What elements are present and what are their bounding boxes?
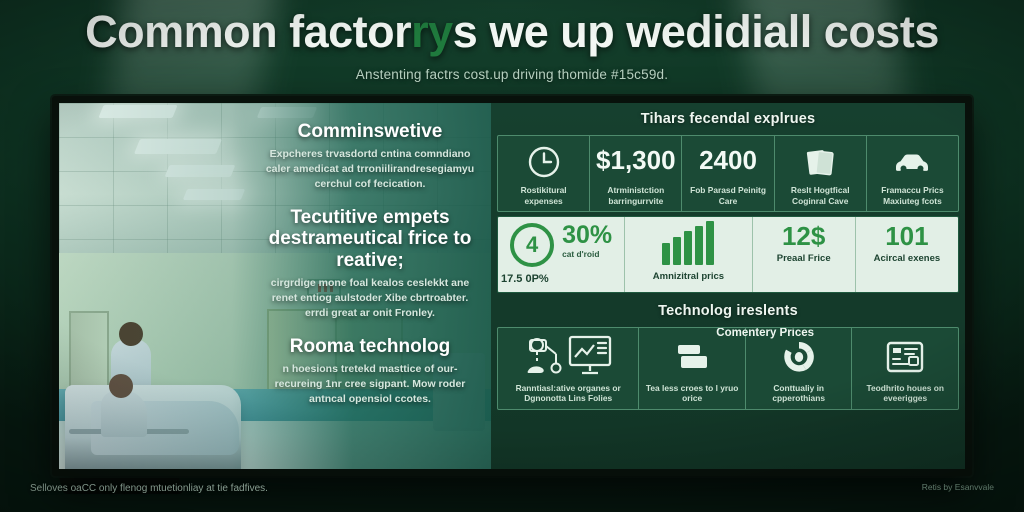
tech-caption: Teodhrito houes on eveerigges [855,383,955,404]
bar [706,221,714,265]
stat-card-residential[interactable]: Rostikitural expenses [498,136,590,211]
page-title-part2: s we up wedidiall costs [453,6,939,57]
price-value: 12$ [782,223,825,249]
dashboard-pane: Tihars fecendal explrues Rostikitural ex… [491,103,965,469]
tech-row: Comentery Prices [497,327,959,410]
tv-screen: Comminswetive Expcheres trvasdortd cntin… [52,96,972,476]
stat-card-pharmacy[interactable]: Framaccu Prics Maxiuteg fcots [867,136,958,211]
photo-text-overlay: Comminswetive Expcheres trvasdortd cntin… [261,121,479,421]
stat-caption: Rostikitural expenses [501,185,586,206]
percent-caption: cat d'roid [562,249,612,259]
tech-card-cycle[interactable]: Conttualiy in cpperothians [746,328,853,409]
stat-value: $1,300 [596,147,676,173]
stat-card-hospital-care[interactable]: Reslt Hogtfical Coginral Cave [775,136,867,211]
overlay-heading: Tecutitive empets destrameutical frice t… [261,207,479,271]
overlay-block: Tecutitive empets destrameutical frice t… [261,207,479,321]
tech-card-layers[interactable]: Tea less croes to l yruo orice [639,328,746,409]
stat-caption: Framaccu Prics Maxiuteg fcots [870,185,955,206]
robot-monitor-icon [522,334,614,380]
slide-canvas: Common factorrys we up wedidiall costs A… [0,0,1024,512]
metric-card-actual[interactable]: 101 Acircal exenes [856,217,958,292]
bar [695,226,703,265]
overlay-block: Rooma technolog n hoesions tretekd mastt… [261,336,479,407]
stat-caption: Atrministction barringurrvite [593,185,678,206]
metric-card-bar-chart[interactable]: Amnizitral prics [625,217,752,292]
clock-icon [527,142,561,182]
overlay-body: cirgrdige mone foal kealos ceslekkt ane … [261,276,479,321]
bar [673,237,681,265]
car-icon [893,142,931,182]
dashboard-section2-title: Technolog ireslents [497,297,959,323]
stats-row: Rostikitural expenses $1,300 Atrministct… [497,135,959,212]
actual-value: 101 [885,223,928,249]
headline-block: Common factorrys we up wedidiall costs A… [0,8,1024,82]
bar [684,231,692,265]
tech-caption: Conttualiy in cpperothians [749,383,849,404]
chart-caption: Amnizitral prics [653,271,724,283]
footer-credit: Retis by Esanvvale [922,482,994,492]
overlay-body: Expcheres trvasdortd cntina comndiano ca… [261,147,479,192]
overlay-heading: Rooma technolog [261,336,479,357]
page-title-accent: ry [411,6,453,57]
stat-value: 2400 [699,147,757,173]
bar-chart [662,223,714,265]
actual-caption: Acircal exenes [874,253,941,265]
overlay-body: n hoesions tretekd masttice of our- recu… [261,362,479,407]
clipboard-icon [884,334,926,380]
badge-caption: 17.5 0P% [501,273,549,287]
documents-icon [803,142,837,182]
stat-caption: Fob Parasd Peinitg Care [685,185,770,206]
stat-caption: Reslt Hogtfical Coginral Cave [778,185,863,206]
tech-card-automation[interactable]: Ranntiasl:ative organes or Dgnonotta Lin… [498,328,639,409]
metrics-row: 4 30% cat d'roid 17.5 0P% [497,216,959,293]
tech-card-clipboard[interactable]: Teodhrito houes on eveerigges [852,328,958,409]
section2-subtitle: Comentery Prices [716,327,814,339]
footer-note: Selloves oaCC only flenog mtuetionliay a… [30,483,268,494]
hospital-photo: Comminswetive Expcheres trvasdortd cntin… [59,103,491,469]
percent-value: 30% [562,223,612,248]
metric-card-percent[interactable]: 4 30% cat d'roid 17.5 0P% [498,217,625,292]
stat-card-primary-care[interactable]: 2400 Fob Parasd Peinitg Care [682,136,774,211]
overlay-heading: Comminswetive [261,121,479,142]
tech-caption: Ranntiasl:ative organes or Dgnonotta Lin… [501,383,635,404]
page-title: Common factorrys we up wedidiall costs [0,8,1024,55]
price-caption: Preaal Frice [777,253,831,265]
dashboard-section-title: Tihars fecendal explrues [497,108,959,131]
metric-card-price[interactable]: 12$ Preaal Frice [753,217,856,292]
page-subtitle: Anstenting factrs cost.up driving thomid… [0,67,1024,82]
tech-caption: Tea less croes to l yruo orice [642,383,742,404]
score-badge: 4 [510,223,554,267]
layers-icon [672,334,712,380]
page-title-part1: Common factor [85,6,411,57]
bar [662,243,670,265]
overlay-block: Comminswetive Expcheres trvasdortd cntin… [261,121,479,192]
cycle-icon [779,334,819,380]
stat-card-administration[interactable]: $1,300 Atrministction barringurrvite [590,136,682,211]
